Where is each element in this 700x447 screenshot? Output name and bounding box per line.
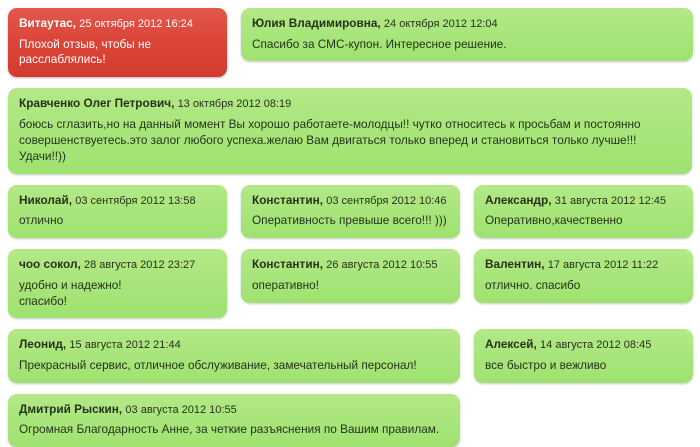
review-author: Дмитрий Рыскин,	[19, 402, 122, 416]
review-date: 28 августа 2012 23:27	[84, 259, 195, 271]
review-meta: Алексей, 14 августа 2012 08:45	[485, 337, 682, 354]
review-date: 17 августа 2012 11:22	[548, 259, 658, 271]
review-card[interactable]: Юлия Владимировна, 24 октября 2012 12:04…	[241, 8, 693, 61]
review-date: 13 октября 2012 08:19	[178, 98, 292, 110]
review-body: оперативно!	[252, 278, 449, 294]
review-body: все быстро и вежливо	[485, 358, 682, 374]
reviews-board: Витаутас, 25 октября 2012 16:24Плохой от…	[0, 0, 700, 402]
review-body: отлично	[19, 213, 216, 229]
review-date: 25 октября 2012 16:24	[79, 18, 193, 30]
review-row: чоо сокол, 28 августа 2012 23:27удобно и…	[8, 249, 692, 318]
review-date: 15 августа 2012 21:44	[69, 339, 180, 351]
review-author: Витаутас,	[19, 16, 76, 30]
review-date: 14 августа 2012 08:45	[540, 339, 651, 351]
review-date: 24 октября 2012 12:04	[384, 18, 498, 30]
review-author: Юлия Владимировна,	[252, 16, 381, 30]
review-row: Николай, 03 сентября 2012 13:58отличноКо…	[8, 185, 692, 238]
review-meta: Валентин, 17 августа 2012 11:22	[485, 257, 682, 274]
review-card[interactable]: Алексей, 14 августа 2012 08:45все быстро…	[474, 329, 693, 382]
review-date: 03 сентября 2012 13:58	[75, 195, 195, 207]
review-author: Леонид,	[19, 337, 66, 351]
review-meta: Дмитрий Рыскин, 03 августа 2012 10:55	[19, 402, 449, 419]
review-meta: Кравченко Олег Петрович, 13 октября 2012…	[19, 96, 681, 113]
review-card[interactable]: Кравченко Олег Петрович, 13 октября 2012…	[8, 88, 692, 173]
review-body: Огромная Благодарность Анне, за четкие р…	[19, 422, 449, 438]
review-meta: Юлия Владимировна, 24 октября 2012 12:04	[252, 16, 682, 33]
review-date: 26 августа 2012 10:55	[326, 259, 437, 271]
review-meta: Константин, 03 сентября 2012 10:46	[252, 193, 449, 210]
review-author: Александр,	[485, 193, 552, 207]
review-card[interactable]: Александр, 31 августа 2012 12:45Оператив…	[474, 185, 693, 238]
review-card[interactable]: Леонид, 15 августа 2012 21:44Прекрасный …	[8, 329, 460, 382]
review-card[interactable]: Константин, 26 августа 2012 10:55операти…	[241, 249, 460, 302]
review-card[interactable]: Константин, 03 сентября 2012 10:46Операт…	[241, 185, 460, 238]
review-body: Оперативно,качественно	[485, 213, 682, 229]
review-author: Кравченко Олег Петрович,	[19, 96, 174, 110]
review-author: чоо сокол,	[19, 257, 81, 271]
review-meta: Константин, 26 августа 2012 10:55	[252, 257, 449, 274]
review-row: Леонид, 15 августа 2012 21:44Прекрасный …	[8, 329, 692, 382]
review-body: Прекрасный сервис, отличное обслуживание…	[19, 358, 449, 374]
review-meta: Александр, 31 августа 2012 12:45	[485, 193, 682, 210]
review-author: Константин,	[252, 193, 323, 207]
review-author: Константин,	[252, 257, 323, 271]
review-meta: Николай, 03 сентября 2012 13:58	[19, 193, 216, 210]
review-body: Плохой отзыв, чтобы не расслаблялись!	[19, 37, 216, 69]
review-date: 03 августа 2012 10:55	[125, 404, 236, 416]
review-meta: чоо сокол, 28 августа 2012 23:27	[19, 257, 216, 274]
review-body: Оперативность превыше всего!!! )))	[252, 213, 449, 229]
review-body: боюсь сглазить,но на данный момент Вы хо…	[19, 117, 681, 165]
review-card[interactable]: чоо сокол, 28 августа 2012 23:27удобно и…	[8, 249, 227, 318]
review-meta: Витаутас, 25 октября 2012 16:24	[19, 16, 216, 33]
review-row: Витаутас, 25 октября 2012 16:24Плохой от…	[8, 8, 692, 77]
review-meta: Леонид, 15 августа 2012 21:44	[19, 337, 449, 354]
review-author: Николай,	[19, 193, 72, 207]
review-body: Спасибо за СМС-купон. Интересное решение…	[252, 37, 682, 53]
review-date: 03 сентября 2012 10:46	[326, 195, 446, 207]
review-card[interactable]: Витаутас, 25 октября 2012 16:24Плохой от…	[8, 8, 227, 77]
review-date: 31 августа 2012 12:45	[555, 195, 666, 207]
review-row: Кравченко Олег Петрович, 13 октября 2012…	[8, 88, 692, 173]
review-body: отлично. спасибо	[485, 278, 682, 294]
review-author: Валентин,	[485, 257, 545, 271]
review-body: удобно и надежно! спасибо!	[19, 278, 216, 310]
review-card[interactable]: Николай, 03 сентября 2012 13:58отлично	[8, 185, 227, 238]
review-author: Алексей,	[485, 337, 537, 351]
review-card[interactable]: Валентин, 17 августа 2012 11:22отлично. …	[474, 249, 693, 302]
